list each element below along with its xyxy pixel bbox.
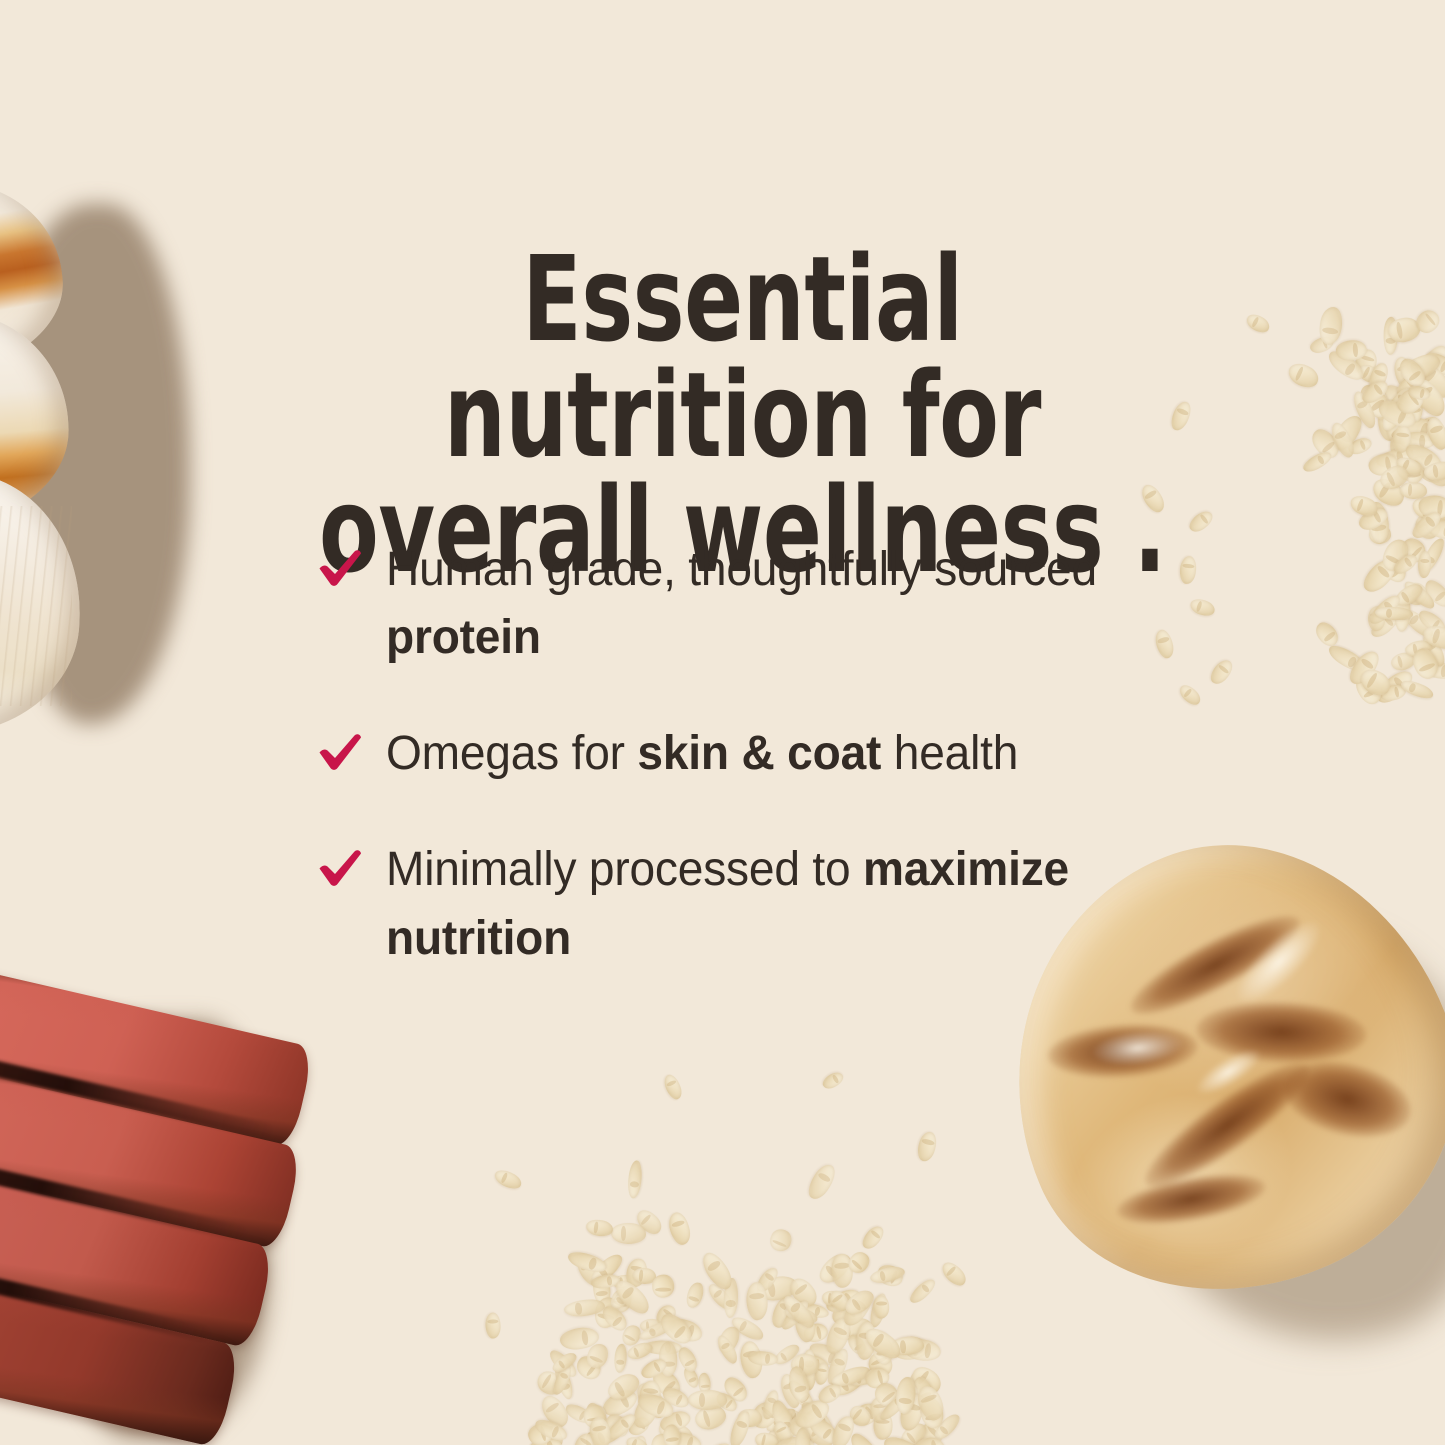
oat-flake bbox=[767, 1227, 795, 1255]
sliced-steak-image bbox=[0, 980, 410, 1445]
oat-flake bbox=[1417, 551, 1432, 579]
oat-flake bbox=[873, 1296, 889, 1319]
oat-flake bbox=[611, 1223, 647, 1244]
check-icon bbox=[316, 544, 364, 592]
list-item: Minimally processed to maximize nutritio… bbox=[316, 836, 1196, 972]
oat-flake bbox=[1317, 306, 1344, 347]
oat-flake bbox=[915, 1130, 939, 1163]
oat-flake bbox=[676, 1345, 701, 1375]
promo-banner: Essential nutrition for overall wellness… bbox=[0, 0, 1445, 1445]
roasted-turkey-slices-image bbox=[0, 186, 182, 738]
list-item: Human grade, thoughtfully sourced protei… bbox=[316, 536, 1196, 672]
oat-flake bbox=[627, 1160, 644, 1199]
oat-flakes-scatter-bottom bbox=[500, 1080, 960, 1445]
oat-flake bbox=[492, 1167, 524, 1192]
oat-flake bbox=[485, 1312, 501, 1339]
benefits-list: Human grade, thoughtfully sourced protei… bbox=[316, 536, 1196, 973]
oat-flake bbox=[1285, 360, 1321, 391]
list-item: Omegas for skin & coat health bbox=[316, 720, 1196, 788]
oat-flake bbox=[1244, 311, 1272, 336]
list-item-label: Human grade, thoughtfully sourced protei… bbox=[386, 536, 1164, 672]
list-item-label: Minimally processed to maximize nutritio… bbox=[386, 836, 1164, 972]
oat-flake bbox=[820, 1069, 846, 1091]
check-icon bbox=[316, 844, 364, 892]
oat-flake bbox=[688, 1390, 727, 1410]
check-icon bbox=[316, 728, 364, 776]
oat-flake bbox=[938, 1259, 969, 1290]
oat-flake bbox=[1301, 448, 1334, 475]
oat-flake bbox=[585, 1218, 614, 1238]
oat-flakes-cluster-top-right bbox=[1180, 300, 1445, 700]
oat-flake bbox=[859, 1223, 887, 1253]
oat-flake bbox=[804, 1161, 839, 1203]
oat-flake bbox=[661, 1072, 684, 1101]
turkey-grain-texture bbox=[0, 506, 72, 706]
oat-flake bbox=[652, 1275, 674, 1298]
oat-flake bbox=[665, 1210, 693, 1247]
list-item-label: Omegas for skin & coat health bbox=[386, 720, 1164, 788]
oat-flake bbox=[684, 1281, 706, 1310]
chicken-sear-mark bbox=[1195, 999, 1367, 1065]
oat-flake bbox=[1399, 677, 1435, 701]
oat-flake bbox=[1207, 656, 1236, 687]
oat-flake bbox=[907, 1277, 938, 1308]
oat-flake bbox=[614, 1343, 629, 1373]
